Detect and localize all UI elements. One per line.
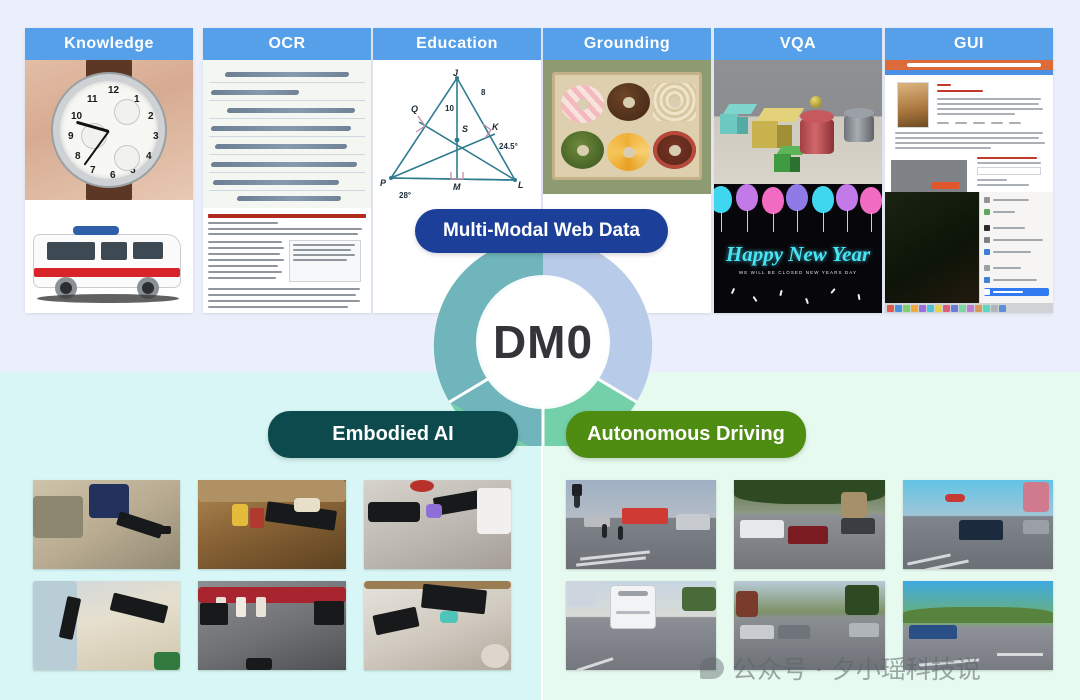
hub-core-label: DM0 <box>493 315 593 369</box>
settings-menu-selected-row[interactable] <box>984 288 1049 296</box>
geo-label-J: J <box>453 68 458 78</box>
embodied-image-grid <box>33 480 511 670</box>
poster-subline: WE WILL BE CLOSED NEW YEARS DAY <box>714 270 882 275</box>
card-body-gui <box>885 60 1053 313</box>
geo-label-Q: Q <box>411 104 418 114</box>
card-header-knowledge: Knowledge <box>25 28 193 60</box>
thumbnail-driving-1 <box>566 480 716 569</box>
card-header-education: Education <box>373 28 541 60</box>
thumbnail-embodied-3 <box>364 480 511 569</box>
label-multi-modal-web-data[interactable]: Multi-Modal Web Data <box>415 209 668 253</box>
card-body-vqa: Happy New Year WE WILL BE CLOSED NEW YEA… <box>714 60 882 313</box>
category-card-vqa[interactable]: VQA <box>714 28 882 313</box>
browser-tab-strip <box>885 70 1053 75</box>
ambulance-shadow <box>37 294 179 303</box>
geo-label-S: S <box>462 124 468 134</box>
image-dog-thumbnail <box>897 82 929 128</box>
image-browser-page <box>885 60 1053 152</box>
ambulance-lightbar <box>73 226 119 235</box>
ambulance-stripe <box>34 268 180 277</box>
geo-label-K: K <box>492 122 499 132</box>
card-header-vqa: VQA <box>714 28 882 60</box>
driving-image-grid <box>566 480 1053 670</box>
geo-label-L: L <box>518 180 524 190</box>
geo-label-M: M <box>453 182 461 192</box>
category-card-gui[interactable]: GUI <box>885 28 1053 313</box>
image-os-settings <box>885 192 1053 313</box>
thumbnail-driving-4 <box>566 581 716 670</box>
thumbnail-driving-3 <box>903 480 1053 569</box>
thumbnail-embodied-2 <box>198 480 345 569</box>
form-submit-button[interactable] <box>931 182 959 189</box>
image-ambulance <box>25 200 193 313</box>
image-news-article <box>203 208 371 313</box>
category-card-ocr[interactable]: OCR <box>203 28 371 313</box>
thumbnail-embodied-5 <box>198 581 345 670</box>
thumbnail-driving-2 <box>734 480 884 569</box>
geo-length-10: 10 <box>445 104 454 113</box>
donut-tray <box>552 72 702 180</box>
thumbnail-driving-5 <box>734 581 884 670</box>
image-handwriting-sample <box>203 60 371 208</box>
category-card-knowledge[interactable]: Knowledge 12 1 2 3 4 5 6 7 8 9 <box>25 28 193 313</box>
thumbnail-embodied-4 <box>33 581 180 670</box>
image-new-year-poster: Happy New Year WE WILL BE CLOSED NEW YEA… <box>714 184 882 313</box>
figure-canvas: Knowledge 12 1 2 3 4 5 6 7 8 9 <box>0 0 1080 700</box>
geo-label-P: P <box>380 178 386 188</box>
geo-angle-245: 24.5° <box>499 142 518 151</box>
thumbnail-embodied-6 <box>364 581 511 670</box>
os-dock <box>885 303 1053 313</box>
label-embodied-ai[interactable]: Embodied AI <box>268 411 518 458</box>
card-body-knowledge: 12 1 2 3 4 5 6 7 8 9 10 11 <box>25 60 193 313</box>
thumbnail-driving-6 <box>903 581 1053 670</box>
image-donut-box <box>543 60 711 194</box>
thumbnail-embodied-1 <box>33 480 180 569</box>
settings-menu-panel <box>979 192 1053 313</box>
card-header-gui: GUI <box>885 28 1053 60</box>
image-web-form <box>885 152 1053 192</box>
card-body-ocr <box>203 60 371 313</box>
image-wristwatch: 12 1 2 3 4 5 6 7 8 9 10 11 <box>25 60 193 200</box>
watch-dial: 12 1 2 3 4 5 6 7 8 9 10 11 <box>53 74 165 186</box>
geo-length-8: 8 <box>481 88 485 97</box>
browser-url-bar <box>907 63 1041 67</box>
label-autonomous-driving[interactable]: Autonomous Driving <box>566 411 806 458</box>
card-header-ocr: OCR <box>203 28 371 60</box>
geo-angle-28: 28° <box>399 191 411 200</box>
settings-wallpaper <box>885 192 979 313</box>
image-clevr-objects <box>714 60 882 184</box>
browser-toolbar <box>885 60 1053 70</box>
hub-core-circle: DM0 <box>479 278 607 406</box>
card-header-grounding: Grounding <box>543 28 711 60</box>
poster-headline: Happy New Year <box>714 242 882 267</box>
